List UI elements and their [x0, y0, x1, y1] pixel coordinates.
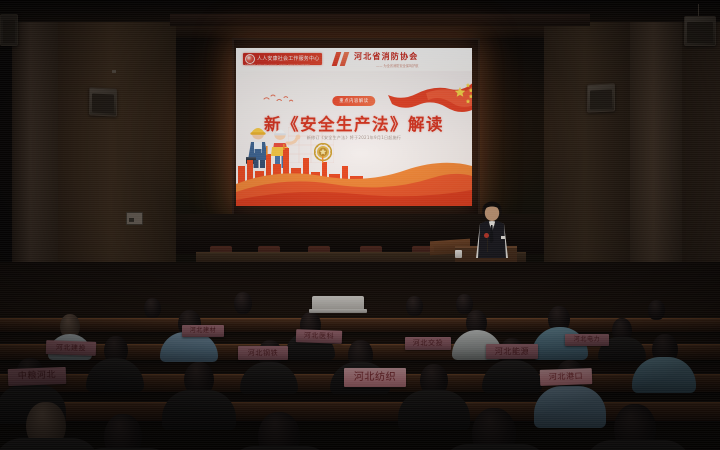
wall-speaker-corner-icon	[0, 14, 18, 46]
wall-light-switch[interactable]	[126, 212, 143, 225]
audience-area	[0, 262, 720, 450]
attendee-head	[406, 296, 423, 316]
desk-nameplate: 河北交投	[405, 337, 451, 350]
flying-birds-icon	[262, 93, 296, 105]
desk-nameplate-label: 河北钢铁	[248, 350, 278, 357]
speaker-grille-icon	[590, 89, 612, 109]
wall-pillar	[540, 0, 630, 300]
presenter-at-lectern	[470, 196, 514, 258]
association-subtitle: —— 为全省消防安全保驾护航	[376, 63, 418, 68]
desk-nameplate-label: 河北医科	[304, 332, 335, 340]
auditorium-photo: 人人安康社会工作服务中心 RENREN ANKANG SOCIAL WORK S…	[0, 0, 720, 450]
attendee-body	[398, 390, 470, 430]
organizer-name: 人人安康社会工作服务中心	[257, 57, 319, 62]
attendee-body	[86, 358, 144, 392]
wall-speaker-right-icon	[587, 83, 615, 112]
attendee-head	[144, 298, 161, 318]
slide-topic-badge: 重点内容解读	[332, 96, 375, 106]
slide-header-band: 人人安康社会工作服务中心 RENREN ANKANG SOCIAL WORK S…	[236, 48, 472, 71]
association-title: 河北省消防协会	[354, 52, 418, 62]
ceiling-beam	[170, 14, 590, 26]
attendee-body	[0, 438, 100, 450]
desk-nameplate: 河北电力	[565, 334, 609, 346]
wall-speaker-left-icon	[89, 87, 117, 116]
organizer-subtitle: RENREN ANKANG SOCIAL WORK SERVICE CENTER	[245, 64, 310, 67]
desk-nameplate: 河北建材	[182, 325, 224, 337]
attendee-body	[228, 446, 332, 450]
attendee-head	[234, 292, 252, 314]
speaker-grille-icon	[687, 22, 713, 43]
speaker-grille-icon	[3, 20, 15, 43]
wall-pillar	[58, 0, 176, 300]
desk-nameplate-label: 中粮河北	[18, 371, 57, 381]
desk-nameplate: 河北港口	[540, 368, 593, 386]
attendee-body	[240, 362, 298, 394]
desk-nameplate-label: 河北建材	[190, 328, 216, 334]
microphone-stem	[487, 238, 488, 252]
slide-body: 重点内容解读 新《安全生产法》解读 新修订《安全生产法》将于2021年9月1日起…	[236, 71, 472, 206]
attendee-head	[258, 412, 300, 450]
desk-nameplate-label: 河北纺织	[354, 373, 396, 383]
wall-pillar	[630, 0, 682, 300]
water-cup	[455, 250, 462, 258]
attendee-head	[648, 300, 665, 320]
wall-plate	[112, 70, 116, 73]
desk-nameplate: 河北医科	[296, 329, 342, 344]
attendee-head	[104, 414, 142, 450]
desk-nameplate-label: 河北港口	[549, 372, 584, 381]
desk-nameplate-label: 河北建投	[56, 344, 87, 352]
ceiling-hung-speaker-icon	[684, 16, 716, 46]
microphone-icon	[484, 233, 489, 238]
projected-slide: 人人安康社会工作服务中心 RENREN ANKANG SOCIAL WORK S…	[236, 48, 472, 206]
attendee-body	[482, 360, 542, 393]
bench-row	[0, 402, 720, 421]
desk-nameplate: 河北纺织	[344, 368, 406, 387]
desk-nameplate-label: 河北电力	[574, 337, 600, 343]
wall-pillar	[12, 0, 58, 300]
orange-hills-illustration	[236, 150, 472, 206]
attendee-body	[162, 390, 236, 430]
desk-nameplate: 中粮河北	[8, 367, 67, 386]
desk-nameplate: 河北能源	[486, 344, 538, 359]
slide-slash-decor	[340, 52, 350, 66]
presenter-laptop	[312, 296, 364, 310]
attendee-body	[632, 357, 696, 393]
attendee-body	[584, 440, 692, 450]
desk-nameplate: 河北建投	[46, 340, 96, 356]
desk-nameplate-label: 河北能源	[495, 348, 529, 356]
attendee-body	[534, 386, 606, 428]
desk-nameplate: 河北钢铁	[238, 346, 288, 360]
organizer-seal-icon	[245, 54, 255, 64]
speaker-grille-icon	[92, 93, 114, 113]
desk-nameplate-label: 河北交投	[413, 340, 443, 347]
attendee-body	[440, 444, 550, 450]
